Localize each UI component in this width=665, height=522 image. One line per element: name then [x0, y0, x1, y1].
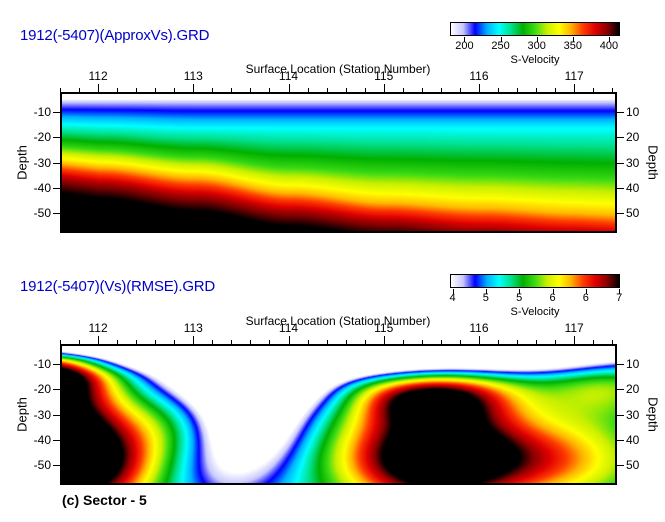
x-axis-major-tick: [289, 84, 290, 92]
x-axis-tick-label: 117: [565, 69, 584, 83]
y-axis-tick: [53, 364, 60, 365]
colorbar-caption-approx-vs: S-Velocity: [450, 54, 620, 66]
y-axis-tick-label: 10: [626, 105, 639, 119]
y-axis-label-left-vs-rmse: Depth: [15, 385, 30, 445]
y-axis-tick: [617, 163, 624, 164]
x-axis-tick-label: 113: [184, 69, 203, 83]
colorbar-labels-vs-rmse: 455667: [450, 292, 620, 306]
x-axis-major-tick: [384, 84, 385, 92]
y-axis-left-approx-vs: -10-20-30-40-50: [34, 92, 60, 233]
y-axis-tick-label: -10: [34, 357, 51, 371]
x-axis-tick-label: 115: [374, 69, 393, 83]
y-axis-tick: [53, 415, 60, 416]
y-axis-tick-label: -40: [34, 181, 51, 195]
x-axis-tick-label: 116: [469, 69, 488, 83]
y-axis-tick: [53, 112, 60, 113]
x-axis-ticks-vs-rmse: 112113114115116117: [60, 324, 617, 344]
y-axis-tick: [617, 112, 624, 113]
x-axis-tick-label: 113: [184, 321, 203, 335]
y-axis-tick: [617, 389, 624, 390]
colorbar-tick-label: 7: [616, 292, 622, 304]
y-axis-tick: [617, 188, 624, 189]
x-axis-major-tick: [479, 336, 480, 344]
y-axis-tick-label: -20: [34, 130, 51, 144]
x-axis-major-tick: [193, 84, 194, 92]
x-axis-tick-label: 115: [374, 321, 393, 335]
y-axis-tick: [53, 137, 60, 138]
x-axis-tick-label: 112: [89, 69, 108, 83]
x-axis-tick-label: 116: [469, 321, 488, 335]
y-axis-tick-label: 40: [626, 181, 639, 195]
panel-title-vs-rmse: 1912(-5407)(Vs)(RMSE).GRD: [20, 278, 215, 295]
x-axis-major-tick: [574, 84, 575, 92]
x-axis-ticks-approx-vs: 112113114115116117: [60, 72, 617, 92]
x-axis-major-tick: [574, 336, 575, 344]
y-axis-tick-label: 10: [626, 357, 639, 371]
colorbar-tick-label: 200: [455, 40, 473, 52]
y-axis-tick-label: -20: [34, 382, 51, 396]
x-axis-tick-label: 114: [279, 69, 298, 83]
y-axis-tick: [53, 389, 60, 390]
y-axis-tick-label: -50: [34, 458, 51, 472]
section-image-vs-rmse: [62, 346, 617, 485]
y-axis-label-right-vs-rmse: Depth: [646, 385, 661, 445]
y-axis-tick-label: -30: [34, 156, 51, 170]
y-axis-right-vs-rmse: 1020304050: [617, 344, 643, 485]
y-axis-tick-label: -10: [34, 105, 51, 119]
y-axis-tick: [617, 440, 624, 441]
y-axis-tick-label: 40: [626, 433, 639, 447]
y-axis-tick: [617, 213, 624, 214]
y-axis-tick-label: 20: [626, 130, 639, 144]
x-axis-tick-label: 117: [565, 321, 584, 335]
y-axis-tick: [53, 465, 60, 466]
x-axis-major-tick: [479, 84, 480, 92]
y-axis-tick-label: 20: [626, 382, 639, 396]
x-axis-major-tick: [98, 84, 99, 92]
colorbar-gradient-vs-rmse: [450, 274, 620, 288]
x-axis-tick-label: 114: [279, 321, 298, 335]
colorbar-caption-vs-rmse: S-Velocity: [450, 306, 620, 318]
x-axis-major-tick: [98, 336, 99, 344]
y-axis-tick-label: 50: [626, 458, 639, 472]
y-axis-tick-label: 50: [626, 206, 639, 220]
y-axis-left-vs-rmse: -10-20-30-40-50: [34, 344, 60, 485]
y-axis-tick: [617, 465, 624, 466]
y-axis-label-right-approx-vs: Depth: [646, 133, 661, 193]
section-plot-vs-rmse: [60, 344, 617, 485]
y-axis-tick: [53, 163, 60, 164]
section-plot-approx-vs: [60, 92, 617, 233]
colorbar-tick-label: 350: [564, 40, 582, 52]
panel-title-approx-vs: 1912(-5407)(ApproxVs).GRD: [20, 27, 209, 44]
figure-caption: (c) Sector - 5: [62, 492, 147, 508]
colorbar-tick-label: 400: [600, 40, 618, 52]
colorbar-gradient-approx-vs: [450, 22, 620, 36]
colorbar-labels-approx-vs: 200250300350400: [450, 40, 620, 54]
y-axis-tick: [53, 188, 60, 189]
section-image-approx-vs: [62, 94, 617, 233]
y-axis-tick: [53, 440, 60, 441]
y-axis-right-approx-vs: 1020304050: [617, 92, 643, 233]
y-axis-tick: [53, 213, 60, 214]
colorbar-tick-label: 4: [449, 292, 455, 304]
x-axis-major-tick: [289, 336, 290, 344]
colorbar-tick-label: 6: [549, 292, 555, 304]
y-axis-tick: [617, 137, 624, 138]
colorbar-tick-label: 250: [491, 40, 509, 52]
y-axis-tick-label: -40: [34, 433, 51, 447]
x-axis-major-tick: [384, 336, 385, 344]
y-axis-tick: [617, 415, 624, 416]
y-axis-tick-label: -50: [34, 206, 51, 220]
y-axis-tick-label: 30: [626, 408, 639, 422]
colorbar-tick-label: 5: [516, 292, 522, 304]
colorbar-tick-label: 6: [583, 292, 589, 304]
y-axis-tick-label: 30: [626, 156, 639, 170]
y-axis-tick: [617, 364, 624, 365]
colorbar-tick-label: 5: [483, 292, 489, 304]
x-axis-tick-label: 112: [89, 321, 108, 335]
x-axis-major-tick: [193, 336, 194, 344]
y-axis-tick-label: -30: [34, 408, 51, 422]
y-axis-label-left-approx-vs: Depth: [15, 133, 30, 193]
colorbar-tick-label: 300: [528, 40, 546, 52]
